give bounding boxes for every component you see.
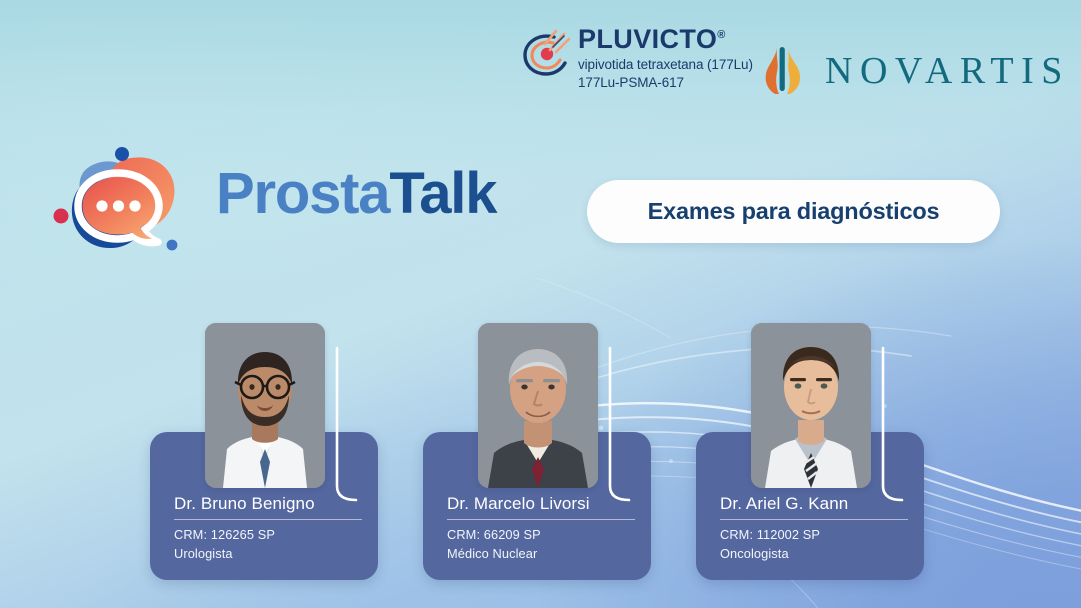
portrait-illustration <box>478 323 598 488</box>
prostatalk-name-part-1: Prosta <box>216 161 389 226</box>
header-logos: PLUVICTO® vipivotida tetraxetana (177Lu)… <box>0 0 1081 130</box>
doctor-photo-frame <box>751 323 871 488</box>
doctor-crm: CRM: 66209 SP <box>447 526 635 545</box>
doctor-portrait <box>751 323 871 488</box>
portrait-illustration <box>751 323 871 488</box>
doctor-crm: CRM: 126265 SP <box>174 526 362 545</box>
doctor-crm: CRM: 112002 SP <box>720 526 908 545</box>
doctor-card-body: Dr. Marcelo Livorsi CRM: 66209 SP Médico… <box>447 494 635 563</box>
brand-row: ProstaTalk Exames para diagnósticos <box>0 140 1081 265</box>
doctor-photo-frame <box>205 323 325 488</box>
prostatalk-name-part-2: Talk <box>389 161 496 226</box>
doctor-specialty: Urologista <box>174 545 362 564</box>
doctor-portrait <box>478 323 598 488</box>
doctor-card-body: Dr. Bruno Benigno CRM: 126265 SP Urologi… <box>174 494 362 563</box>
pluvicto-subtitle-generic: vipivotida tetraxetana (177Lu) <box>578 56 753 74</box>
section-title-pill: Exames para diagnósticos <box>587 180 1000 243</box>
novartis-logo: NOVARTIS <box>757 44 1070 98</box>
doctor-name: Dr. Marcelo Livorsi <box>447 494 635 514</box>
prostatalk-speech-bubble-logo <box>48 143 208 268</box>
doctor-specialty: Oncologista <box>720 545 908 564</box>
doctor-name-divider <box>447 519 635 520</box>
pluvicto-subtitle-code: 177Lu-PSMA-617 <box>578 74 753 92</box>
pluvicto-comet-icon <box>520 28 572 78</box>
pluvicto-name-text: PLUVICTO <box>578 24 717 54</box>
doctor-name-divider <box>720 519 908 520</box>
doctor-portrait <box>205 323 325 488</box>
doctor-specialty: Médico Nuclear <box>447 545 635 564</box>
section-title-label: Exames para diagnósticos <box>648 198 940 225</box>
pluvicto-wordmark: PLUVICTO® <box>578 26 753 53</box>
portrait-illustration <box>205 323 325 488</box>
pluvicto-logo: PLUVICTO® vipivotida tetraxetana (177Lu)… <box>520 26 753 92</box>
pluvicto-registered-mark: ® <box>717 29 726 41</box>
doctor-cards-row: Dr. Bruno Benigno CRM: 126265 SP Urologi… <box>0 300 1081 600</box>
doctor-photo-frame <box>478 323 598 488</box>
slide-canvas: PLUVICTO® vipivotida tetraxetana (177Lu)… <box>0 0 1081 608</box>
novartis-flame-icon <box>757 44 807 98</box>
prostatalk-wordmark: ProstaTalk <box>216 165 496 223</box>
novartis-wordmark: NOVARTIS <box>825 52 1070 90</box>
doctor-name: Dr. Bruno Benigno <box>174 494 362 514</box>
doctor-name: Dr. Ariel G. Kann <box>720 494 908 514</box>
doctor-name-divider <box>174 519 362 520</box>
doctor-card-body: Dr. Ariel G. Kann CRM: 112002 SP Oncolog… <box>720 494 908 563</box>
